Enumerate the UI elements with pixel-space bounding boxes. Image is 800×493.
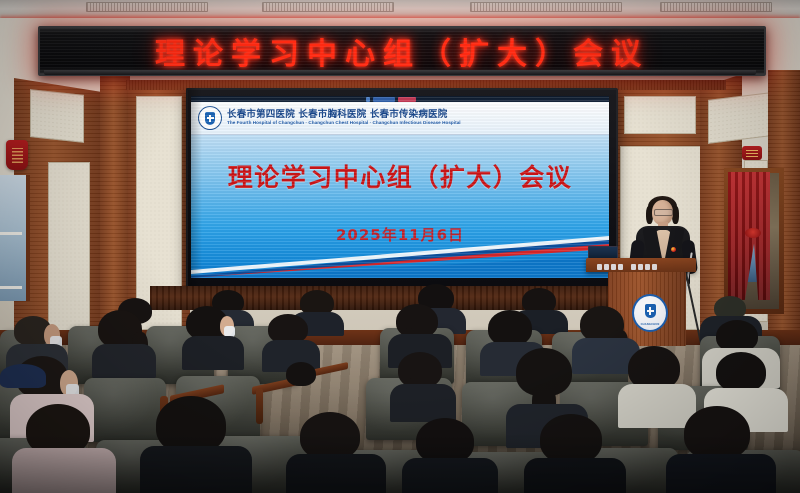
toolbar-secondary-button[interactable]: [398, 97, 416, 102]
air-vent: [262, 2, 394, 12]
red-wall-ornament-left: [6, 140, 28, 170]
meeting-room-photo: 理论学习中心组（扩大）会议 长春市第四医院 长春市胸科医院 长春市传染病医院 T…: [0, 0, 800, 493]
red-wall-ornament-right: [742, 146, 762, 160]
hospital-name-chinese: 长春市第四医院 长春市胸科医院 长春市传染病医院: [227, 110, 461, 120]
wall-inset-panel: [624, 96, 696, 134]
slide-title: 理论学习中心组（扩大）会议: [191, 158, 609, 194]
air-vent: [86, 2, 208, 12]
hospital-shield-logo: [198, 106, 222, 130]
wall-inset-panel: [48, 162, 90, 334]
curtain-tieback: [745, 228, 761, 238]
glasses-icon: [654, 209, 673, 216]
window-mullion: [0, 232, 22, 235]
toolbar-primary-button[interactable]: [373, 97, 395, 102]
hospital-name-block: 长春市第四医院 长春市胸科医院 长春市传染病医院 The Fourth Hosp…: [227, 110, 461, 126]
toolbar-dot-icon: [366, 97, 370, 102]
left-window: [0, 175, 30, 301]
window-mullion: [0, 286, 22, 289]
hospital-name-english: The Fourth Hospital of Changchun · Chang…: [227, 121, 461, 126]
wall-inset-panel: [30, 89, 84, 143]
hospital-circular-emblem: CHANGCHUN: [632, 294, 668, 332]
air-vent: [660, 2, 772, 12]
air-vent: [470, 2, 622, 12]
auditorium-seat: [84, 378, 166, 442]
slide-hospital-header: 长春市第四医院 长春市胸科医院 长春市传染病医院 The Fourth Hosp…: [191, 102, 609, 135]
lapel-pin-icon: [671, 247, 676, 252]
led-banner-base: [44, 70, 756, 75]
podium-nameplate: [596, 262, 658, 271]
presenter-hair: [672, 206, 679, 224]
presentation-slide: 长春市第四医院 长春市胸科医院 长春市传染病医院 The Fourth Hosp…: [191, 96, 609, 278]
led-scrolling-banner: 理论学习中心组（扩大）会议: [38, 26, 766, 76]
led-banner-text: 理论学习中心组（扩大）会议: [155, 29, 649, 73]
projection-screen: 长春市第四医院 长春市胸科医院 长春市传染病医院 The Fourth Hosp…: [186, 88, 618, 290]
slide-ribbon-graphic: [191, 236, 609, 278]
wall-inset-panel: [708, 92, 772, 144]
seat-armrest: [256, 388, 263, 424]
